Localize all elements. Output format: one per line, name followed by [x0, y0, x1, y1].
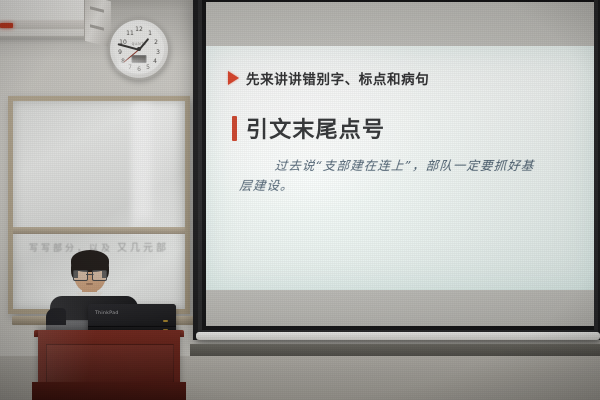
clock-numeral: 3 — [153, 50, 163, 56]
slide-body-line-1: 过去说“支部建在连上”，部队一定要抓好基 — [240, 156, 577, 176]
clock-glass-glare — [116, 59, 158, 73]
projection-screen-surface: 先来讲讲错别字、标点和病句 引文末尾点号 过去说“支部建在连上”，部队一定要抓好… — [206, 2, 594, 326]
laptop-brand-label: ThinkPad — [95, 311, 119, 316]
classroom-scene: 12 1 2 3 4 5 6 7 8 9 10 11 quartz 写写部分，以… — [0, 0, 600, 400]
whiteboard-divider — [13, 227, 185, 234]
whiteboard-glare-streak — [135, 101, 151, 219]
clock-center-pin — [137, 47, 141, 51]
clock-numeral: 2 — [151, 40, 161, 46]
presenter-mouth — [86, 283, 93, 285]
triangle-bullet-icon — [228, 71, 239, 85]
clock-numeral: 9 — [115, 50, 125, 56]
clock-numeral: 12 — [134, 27, 144, 33]
slide-body-text: 过去说“支部建在连上”，部队一定要抓好基 层建设。 — [239, 156, 578, 197]
wall-clock: 12 1 2 3 4 5 6 7 8 9 10 11 quartz — [108, 18, 170, 80]
glasses-lens-left — [73, 270, 88, 281]
glasses-icon — [73, 270, 107, 279]
presentation-slide: 先来讲讲错别字、标点和病句 引文末尾点号 过去说“支部建在连上”，部队一定要抓好… — [206, 46, 594, 290]
laptop-lid: ThinkPad — [88, 304, 176, 327]
air-conditioner-side — [84, 0, 111, 47]
air-conditioner-icon — [0, 0, 87, 38]
title-accent-bar — [232, 116, 237, 141]
clock-numeral: 1 — [145, 31, 155, 37]
screen-band-top — [206, 2, 594, 46]
screen-band-bottom — [206, 290, 594, 326]
slide-bullet-row: 先来讲讲错别字、标点和病句 — [228, 68, 429, 88]
glasses-lens-right — [92, 270, 107, 281]
slide-title: 引文末尾点号 — [246, 112, 385, 144]
slide-title-row: 引文末尾点号 — [232, 112, 385, 144]
slide-bullet-text: 先来讲讲错别字、标点和病句 — [246, 68, 429, 88]
clock-numeral: 11 — [125, 31, 135, 37]
screen-roller-bar — [196, 332, 600, 340]
podium-base — [32, 382, 186, 400]
slide-body-line-2: 层建设。 — [239, 176, 576, 196]
laptop-led-indicator-secondary — [163, 320, 168, 322]
air-conditioner-led — [0, 23, 13, 28]
